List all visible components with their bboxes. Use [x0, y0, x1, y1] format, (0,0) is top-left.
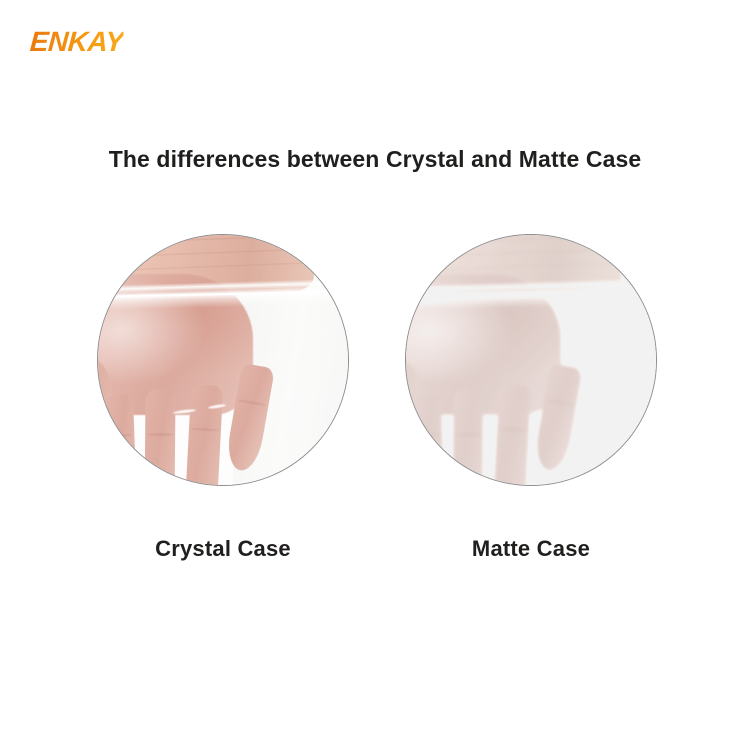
comparison-section	[0, 234, 750, 490]
page-title: The differences between Crystal and Matt…	[0, 146, 750, 173]
comparison-item-crystal	[97, 234, 349, 486]
case-sheen	[97, 234, 349, 486]
matte-haze-overlay	[406, 235, 656, 485]
caption-crystal-case: Crystal Case	[97, 536, 349, 562]
crystal-scene	[97, 234, 349, 486]
crystal-case-photo	[97, 234, 349, 486]
brand-logo: ENKAY	[29, 28, 124, 56]
matte-case-photo	[405, 234, 657, 486]
comparison-item-matte	[405, 234, 657, 486]
caption-matte-case: Matte Case	[405, 536, 657, 562]
